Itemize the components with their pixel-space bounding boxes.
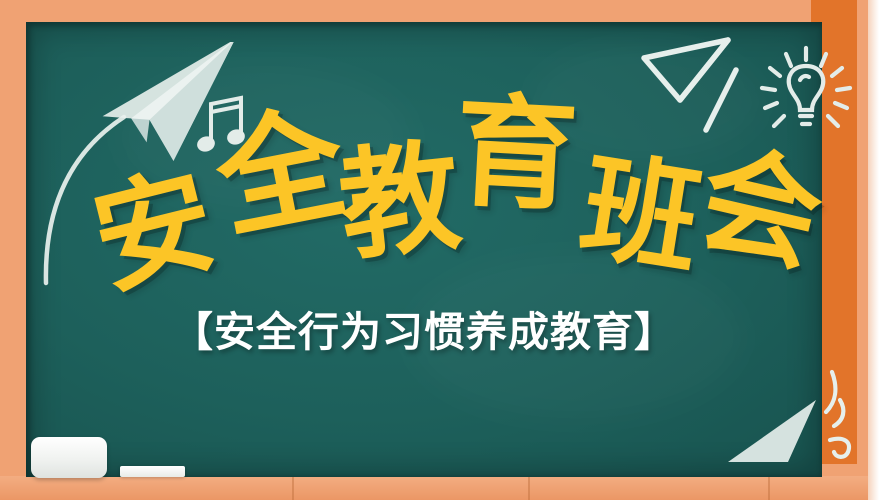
- title-char-4: 育: [452, 90, 580, 218]
- safety-education-class-meeting-poster: 安 全 教 育 班 会 【安全行为习惯养成教育】: [0, 0, 879, 500]
- chalk-stick: [120, 466, 185, 477]
- poster-subtitle: 【安全行为习惯养成教育】: [0, 298, 848, 358]
- title-char-1: 安: [82, 159, 225, 302]
- chalkboard-eraser: [31, 437, 107, 478]
- title-char-6: 会: [688, 138, 832, 282]
- title-char-2: 全: [207, 99, 355, 247]
- title-char-3: 教: [334, 137, 466, 269]
- poster-title: 安 全 教 育 班 会: [0, 0, 879, 500]
